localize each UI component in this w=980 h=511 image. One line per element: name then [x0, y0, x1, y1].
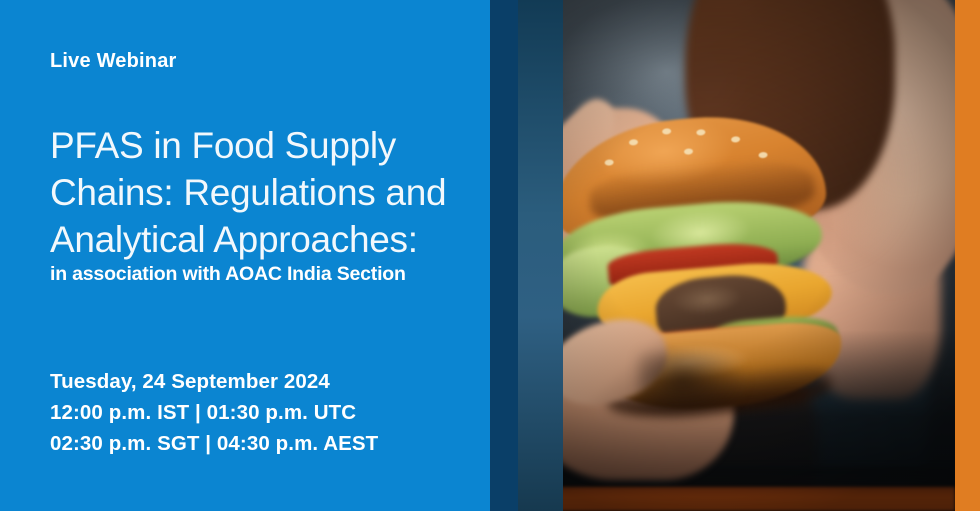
webinar-banner: Live Webinar PFAS in Food Supply Chains:… [0, 0, 980, 511]
webinar-photo [518, 0, 955, 511]
steel-divider-band [518, 0, 563, 511]
association-subtitle: in association with AOAC India Section [50, 263, 406, 286]
title-line-1: PFAS in Food Supply [50, 122, 470, 169]
page-title: PFAS in Food Supply Chains: Regulations … [50, 122, 470, 263]
hand-shadow [638, 352, 748, 422]
title-line-3: Analytical Approaches: [50, 216, 470, 263]
info-panel: Live Webinar PFAS in Food Supply Chains:… [0, 0, 490, 511]
table-surface [518, 487, 955, 511]
eyebrow-label: Live Webinar [50, 50, 177, 73]
schedule-date: Tuesday, 24 September 2024 [50, 366, 378, 397]
orange-accent-band [955, 0, 980, 511]
schedule-times-2: 02:30 p.m. SGT | 04:30 p.m. AEST [50, 428, 378, 459]
schedule-times-1: 12:00 p.m. IST | 01:30 p.m. UTC [50, 397, 378, 428]
title-line-2: Chains: Regulations and [50, 169, 470, 216]
navy-divider-band [490, 0, 518, 511]
schedule-block: Tuesday, 24 September 2024 12:00 p.m. IS… [50, 366, 378, 459]
